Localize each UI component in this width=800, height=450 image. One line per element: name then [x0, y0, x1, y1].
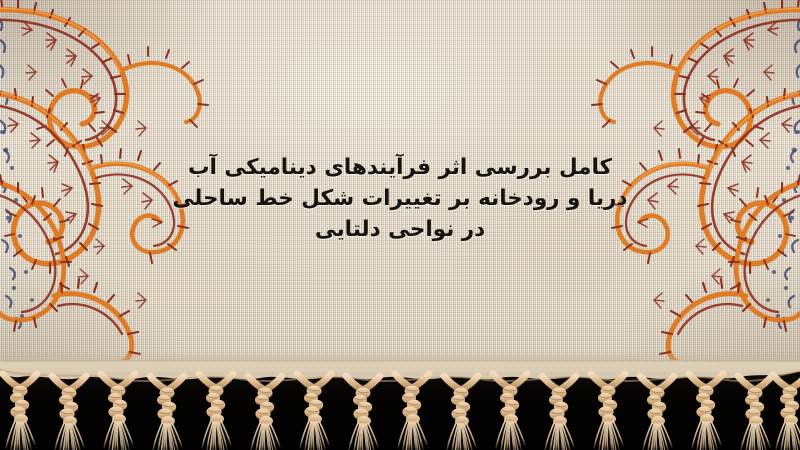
title-line-2: دریا و رودخانه بر تغییرات شکل خط ساحلی	[0, 183, 800, 214]
title-card-canvas: کامل بررسی اثر فرآیندهای دینامیکی آب دری…	[0, 0, 800, 450]
knotted-tassel-fringe	[0, 362, 800, 450]
title-line-1: کامل بررسی اثر فرآیندهای دینامیکی آب	[0, 152, 800, 183]
page-title: کامل بررسی اثر فرآیندهای دینامیکی آب دری…	[0, 152, 800, 245]
title-line-3: در نواحی دلتایی	[0, 214, 800, 245]
